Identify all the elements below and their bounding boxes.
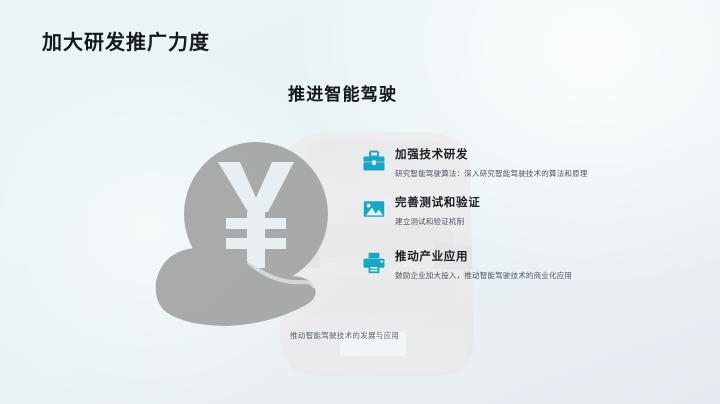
list-item[interactable]: 推动产业应用 鼓励企业加大投入，推动智能驾驶技术的商业化应用 — [362, 250, 620, 282]
list-item-desc: 研究智能驾驶算法：深入研究智能驾驶技术的算法和原理 — [395, 168, 620, 180]
feature-list: 加强技术研发 研究智能驾驶算法：深入研究智能驾驶技术的算法和原理 完善测试和验证… — [362, 148, 620, 282]
slide-caption: 推动智能驾驶技术的发展与应用 — [290, 330, 399, 341]
presentation-slide: 加大研发推广力度 推进智能驾驶 加强技术研发 研究智能驾驶算法：深入研究智能驾驶… — [0, 0, 720, 404]
printer-icon — [362, 251, 386, 275]
toolbox-icon — [362, 149, 386, 173]
list-item-desc: 建立测试和验证机制 — [395, 216, 620, 228]
list-item-body: 加强技术研发 研究智能驾驶算法：深入研究智能驾驶技术的算法和原理 — [395, 148, 620, 180]
list-item-title: 推动产业应用 — [395, 250, 620, 265]
list-item-body: 推动产业应用 鼓励企业加大投入，推动智能驾驶技术的商业化应用 — [395, 250, 620, 282]
list-item[interactable]: 完善测试和验证 建立测试和验证机制 — [362, 196, 620, 228]
list-item-title: 完善测试和验证 — [395, 196, 620, 211]
image-icon — [362, 197, 386, 221]
list-item-body: 完善测试和验证 建立测试和验证机制 — [395, 196, 620, 228]
slide-title: 加大研发推广力度 — [42, 26, 210, 55]
list-item-title: 加强技术研发 — [395, 148, 620, 163]
list-item[interactable]: 加强技术研发 研究智能驾驶算法：深入研究智能驾驶技术的算法和原理 — [362, 148, 620, 180]
hand-holding-yen-icon — [152, 136, 360, 336]
section-title: 推进智能驾驶 — [288, 80, 397, 105]
list-item-desc: 鼓励企业加大投入，推动智能驾驶技术的商业化应用 — [395, 270, 620, 282]
